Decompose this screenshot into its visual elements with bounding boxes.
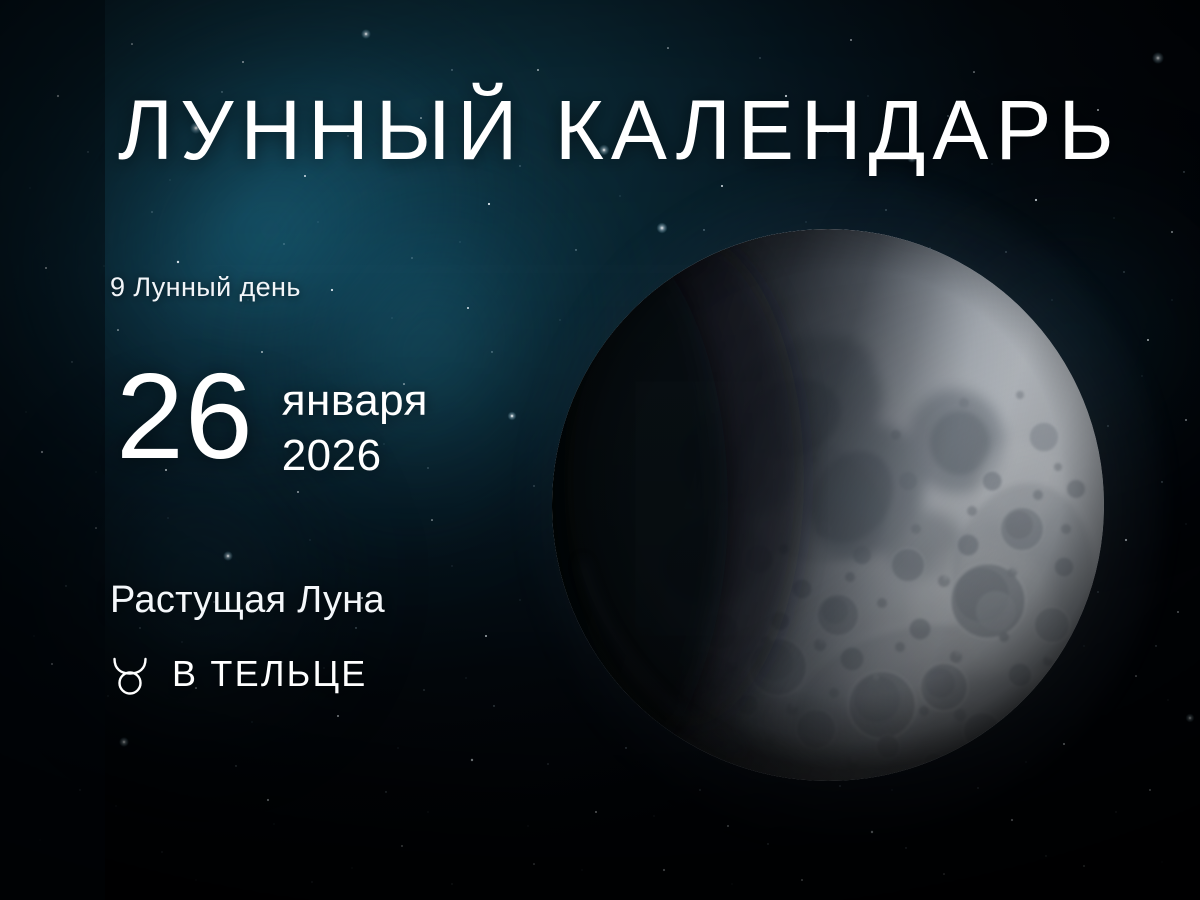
page-title: ЛУННЫЙ КАЛЕНДАРЬ [118,86,1121,174]
date-day: 26 [116,364,254,469]
date-year: 2026 [282,429,428,484]
zodiac-sign-label: В ТЕЛЬЦЕ [172,653,368,695]
date-block: 26 января 2026 [116,364,428,483]
lunar-day-label: 9 Лунный день [110,272,301,303]
taurus-glyph-icon [110,652,150,696]
date-month-year: января 2026 [282,364,428,483]
moon-phase-label: Растущая Луна [110,579,385,622]
zodiac-sign-row: В ТЕЛЬЦЕ [110,652,368,696]
date-month: января [282,374,428,429]
left-panel-band [0,0,105,900]
lunar-calendar-poster: ЛУННЫЙ КАЛЕНДАРЬ 9 Лунный день 26 января… [0,0,1200,900]
